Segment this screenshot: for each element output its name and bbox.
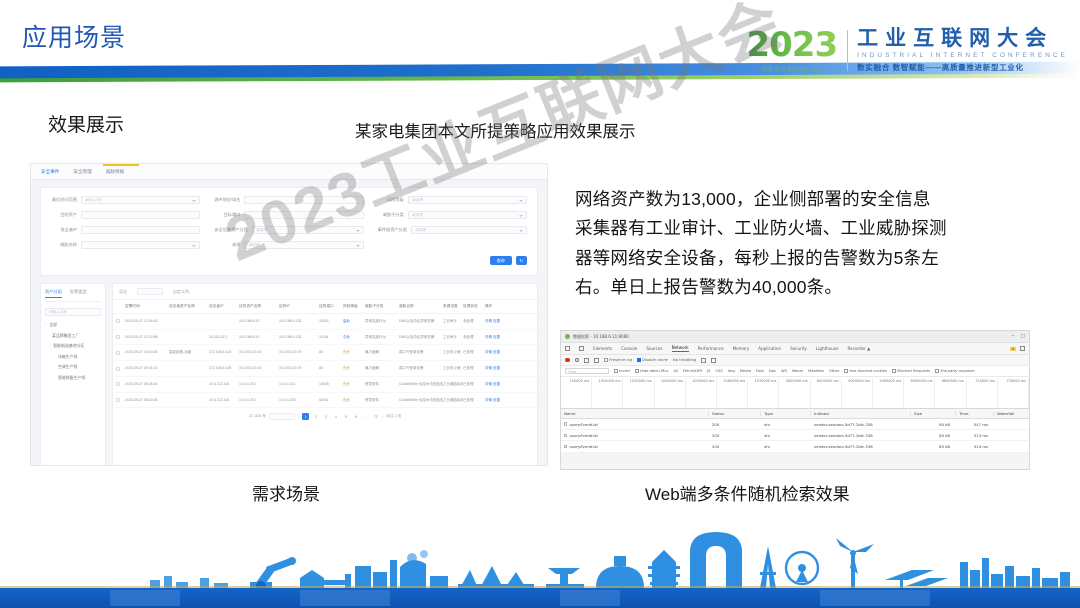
filter-value-7: 请选择 [412, 198, 423, 203]
filter-label-7: 风险等级 [378, 197, 404, 203]
th-0[interactable]: 告警时间 [125, 304, 169, 309]
cell-dst-name: 192.168.8.13 [239, 319, 279, 324]
page-title: 应用场景 [22, 18, 126, 54]
type-filter-wasm[interactable]: Wasm [792, 369, 803, 373]
clear-icon[interactable] [575, 358, 580, 363]
filter-reset-button[interactable]: ↻ [516, 256, 527, 265]
factory-tank-icon [300, 570, 351, 588]
filter-input-11[interactable]: 请选择 [411, 226, 527, 234]
logo-english-name: INDUSTRIAL INTERNET CONFERENCE [857, 52, 1068, 59]
request-icon [564, 434, 567, 437]
tree-caret-0[interactable]: − [45, 322, 47, 328]
app-filter-grid: 最近时间范围最近1小时 源IP地址/域名 风险等级请选择 目的资产 目标端口 威… [51, 196, 527, 249]
logo-year-block: 2023 中国·苏州 8月14日-18日 [746, 28, 847, 73]
timeline-tick-11: 6000000 ms [904, 379, 935, 408]
tree-label-4: 空调生产线 [58, 364, 77, 370]
pagination-page-1[interactable]: 1 [302, 413, 309, 420]
filter-input-7[interactable]: 请选择 [408, 196, 527, 204]
cell-port: 31163 [319, 319, 343, 324]
cell-threat: CobaltStrike 远控木马回连告警 [399, 382, 443, 387]
filter-input-10[interactable]: 请选择 [252, 226, 364, 234]
checkbox-box [935, 369, 939, 373]
th-7[interactable]: 威胁子分类 [365, 304, 399, 309]
import-har-icon[interactable] [701, 358, 706, 363]
bridge-icon [458, 566, 534, 588]
cell-action[interactable]: 详情 处置 [485, 398, 517, 403]
cell-device: 工业威胁探测器 [443, 398, 463, 403]
timeline-tick-10: 1900000 ms [873, 379, 904, 408]
filter-field-2[interactable]: 目的资产 [51, 211, 200, 219]
cell-dst-name: 10.100.100.19 [239, 350, 279, 355]
tab-memory[interactable]: Memory [733, 346, 750, 351]
skyline-graphic [0, 522, 1080, 608]
sea-edge-line [0, 586, 1080, 588]
tree-label-1: 某品牌集团工厂 [52, 333, 79, 339]
filter-input-8[interactable]: 请选择 [408, 211, 527, 219]
devtools-titlebar: 数据检索 - 10.188.6.11:8080 − □ [561, 331, 1029, 343]
type-filter-all[interactable]: All [673, 369, 678, 373]
network-toolbar: Preserve log Disable cache No throttling [561, 355, 1029, 366]
row-checkbox[interactable] [116, 398, 120, 402]
th-1[interactable]: 攻击者资产名称 [169, 304, 209, 309]
filter-value-12: 请选择 [248, 243, 259, 248]
table-row[interactable]: 2023-05-07 08:33:08 10.4.212.116 10.3.4.… [113, 393, 537, 409]
row-checkbox[interactable] [116, 351, 120, 355]
tree-node-4[interactable]: 空调生产线 [45, 364, 101, 370]
cell-sub: 异常连接行为 [365, 335, 399, 340]
table-toolbar-pagesize[interactable] [137, 288, 163, 295]
ferris-wheel-icon [786, 552, 818, 584]
filter-field-6[interactable]: 威胁名称 [51, 241, 200, 249]
cell-action[interactable]: 详情 处置 [485, 382, 517, 387]
filter-field-4[interactable]: 目标端口 [214, 211, 363, 219]
figure-title: 某家电集团本文所提策略应用效果展示 [355, 118, 636, 142]
filter-field-0[interactable]: 最近时间范围最近1小时 [51, 196, 200, 204]
cell-threat: DNS以及协议异常告警 [399, 335, 443, 340]
record-icon[interactable] [565, 358, 570, 363]
tab-lighthouse[interactable]: Lighthouse [816, 346, 839, 351]
cell-dst-name: 10.3.4.210 [239, 382, 279, 387]
th-5[interactable]: 目的端口 [319, 304, 343, 309]
request-name-cell[interactable]: queryEventList [561, 444, 709, 449]
request-name: queryEventList [569, 433, 597, 438]
wind-turbine-icon [836, 538, 874, 588]
filter-label-1: 源IP地址/域名 [214, 197, 240, 203]
app-tab-indicator [103, 164, 139, 166]
table-row[interactable]: 2023-05-07 09:41:13 172.168.8.105 10.100… [113, 361, 537, 377]
request-type: xhr [761, 422, 811, 427]
cell-threat: 弱口令登录告警 [399, 366, 443, 371]
row-checkbox[interactable] [116, 367, 120, 371]
type-filter-xhr[interactable]: Fetch/XHR [683, 369, 702, 373]
timeline-tick-3: 1040000 ms [655, 379, 686, 408]
filter-label-0: 最近时间范围 [51, 197, 77, 203]
paragraph-line-0: 网络资产数为13,000，企业侧部署的安全信息 [575, 185, 1010, 214]
pagination-page-4[interactable]: 4 [332, 413, 339, 420]
cell-device: 工业威胁探测器 [443, 382, 463, 387]
cell-src-ip: 10.4.212.116 [209, 382, 239, 387]
filter-label-11: 事件级资产分类 [378, 227, 407, 233]
tree-node-5[interactable]: 智能装备生产线 [45, 375, 101, 381]
cell-dst-ip: 10.100.100.79 [279, 350, 319, 355]
cell-action[interactable]: 详情 处置 [485, 319, 517, 324]
tree-search-input[interactable]: 请输入名称 [45, 308, 101, 316]
cell-action[interactable]: 详情 处置 [485, 366, 517, 371]
caption-right: Web端多条件随机检索效果 [645, 480, 850, 505]
th-3[interactable]: 目的资产名称 [239, 304, 279, 309]
pagination-next[interactable]: › [382, 415, 383, 419]
request-size: 80 kB [911, 422, 956, 427]
filter-input-6[interactable] [81, 241, 200, 249]
request-row[interactable]: queryEventList 200 xhr vendor-vendors-5d… [561, 419, 1029, 430]
type-filter-media[interactable]: Media [740, 369, 751, 373]
tree-list: −全部 某品牌集团工厂 −智能制造基地分区 冰箱生产线 空调生产线 智能装备生产… [45, 322, 101, 381]
type-filter-font[interactable]: Font [756, 369, 764, 373]
filter-label-2: 目的资产 [51, 212, 77, 218]
filter-input-0[interactable]: 最近1小时 [81, 196, 200, 204]
timeline-tick-2: 1030000 ms [623, 379, 654, 408]
pagination-page-3[interactable]: 3 [322, 413, 329, 420]
cell-src-ip: 172.168.8.105 [209, 366, 239, 371]
th-9[interactable]: 来源设备 [443, 304, 463, 309]
tree-tab-0[interactable]: 资产分组 [45, 289, 62, 298]
tree-label-2: 智能制造基地分区 [53, 343, 84, 349]
preserve-log-label: Preserve log [609, 358, 632, 362]
request-size: 80 kB [911, 433, 956, 438]
filter-input-4[interactable] [244, 211, 363, 219]
network-timeline[interactable]: 100000 ms 1020000 ms 1030000 ms 1040000 … [561, 377, 1029, 409]
pagination-page-6[interactable]: 6 [352, 413, 359, 420]
warning-badge[interactable]: 4 [1010, 347, 1016, 351]
cell-src-name: 智能制造-冰箱 [169, 350, 209, 355]
timeline-tick-7: 4000000 ms [779, 379, 810, 408]
logo-chinese-name: 工业互联网大会 [857, 28, 1068, 49]
device-toolbar-icon[interactable] [579, 346, 584, 351]
filter-input[interactable]: Filter [565, 368, 609, 375]
filter-search-button[interactable]: 查询 [490, 256, 512, 265]
table-toolbar-export[interactable]: 导出 [119, 289, 127, 295]
col-status[interactable]: Status [709, 411, 761, 416]
request-initiator[interactable]: vendor-vendors-5d77-2bfc.338 [811, 433, 911, 438]
filter-label-4: 目标端口 [214, 212, 240, 218]
app-tab-0[interactable]: 安全事件 [41, 169, 59, 175]
table-toolbar-columns[interactable]: 自定义列 [173, 289, 189, 295]
window-controls: − □ [1011, 334, 1025, 339]
timeline-tick-4: 1050000 ms [686, 379, 717, 408]
checkbox-box [892, 369, 896, 373]
pagination-prev[interactable]: ‹ [298, 415, 299, 419]
pavilion-icon [546, 568, 584, 588]
filter-field-7[interactable]: 风险等级请选择 [378, 196, 527, 204]
conference-logo: 2023 中国·苏州 8月14日-18日 工业互联网大会 INDUSTRIAL … [746, 28, 1068, 73]
th-6[interactable]: 风险等级 [343, 304, 365, 309]
settings-gear-icon[interactable] [1020, 346, 1025, 351]
throttling-select[interactable]: No throttling [673, 358, 696, 362]
tree-tab-1[interactable]: 告警类型 [70, 289, 87, 298]
th-10[interactable]: 处理状态 [463, 304, 485, 309]
timeline-tick-8: 6000000 ms [811, 379, 842, 408]
filter-field-8[interactable]: 威胁子分类请选择 [378, 211, 527, 219]
cell-src-ip: 172.168.6.103 [209, 350, 239, 355]
filter-input-12[interactable]: 请选择 [244, 241, 363, 249]
table-toolbar: 导出 自定义列 [113, 284, 537, 300]
factory-icon [355, 550, 448, 588]
type-filter-js[interactable]: JS [707, 369, 710, 373]
filter-label-3: 攻击者IP [51, 227, 77, 233]
cell-threat: DNS以及协议异常告警 [399, 319, 443, 324]
third-party-label: 3rd-party requests [940, 369, 974, 373]
tree-node-3[interactable]: 冰箱生产线 [45, 354, 101, 360]
col-time[interactable]: Time [956, 411, 994, 416]
col-type[interactable]: Type [761, 411, 811, 416]
cell-dst-ip: 10.3.4.211 [279, 382, 319, 387]
filter-placeholder: Filter [568, 370, 577, 374]
app-screenshot: 安全事件 安全管理 威胁情报 最近时间范围最近1小时 源IP地址/域名 风险等级… [30, 163, 548, 466]
logo-text-block: 工业互联网大会 INDUSTRIAL INTERNET CONFERENCE 数… [857, 28, 1068, 73]
pagination-ellipsis: … [362, 413, 369, 420]
checkbox-box [637, 358, 641, 362]
request-icon [564, 422, 567, 425]
tree-caret-2[interactable]: − [49, 343, 51, 349]
cell-time: 2023-05-07 12:05:18 [125, 319, 169, 324]
cell-time: 2023-05-07 08:36:44 [125, 382, 169, 387]
th-2[interactable]: 攻击者IP [209, 304, 239, 309]
app-tab-1[interactable]: 安全管理 [73, 169, 91, 175]
tree-node-1[interactable]: 某品牌集团工厂 [45, 333, 101, 339]
tab-performance[interactable]: Performance [698, 346, 724, 351]
row-checkbox[interactable] [116, 335, 120, 339]
type-filter-manifest[interactable]: Manifest [808, 369, 824, 373]
paragraph-line-3: 右。单日上报告警数为40,000条。 [575, 273, 1010, 302]
timeline-tick-12: 6890000 ms [935, 379, 966, 408]
caption-left: 需求场景 [252, 480, 320, 505]
maximize-icon[interactable]: □ [1021, 334, 1025, 339]
filter-field-1[interactable]: 源IP地址/域名 [214, 196, 363, 204]
timeline-tick-0: 100000 ms [561, 379, 592, 408]
hide-data-urls-checkbox[interactable]: Hide data URLs [635, 369, 668, 373]
cell-device: 工业防火墙 [443, 350, 463, 355]
request-time: 513 ms [956, 433, 994, 438]
request-size: 80 kB [911, 444, 956, 449]
tree-tabs: 资产分组 告警类型 [45, 289, 101, 302]
filter-field-11[interactable]: 事件级资产分类请选择 [378, 226, 527, 234]
cell-status: 已处理 [463, 350, 485, 355]
section-label: 效果展示 [48, 110, 124, 137]
th-8[interactable]: 威胁名称 [399, 304, 443, 309]
request-type: xhr [761, 444, 811, 449]
cell-level: 低危 [343, 366, 365, 371]
timeline-tick-5: 1060000 ms [717, 379, 748, 408]
request-status: 200 [709, 444, 761, 449]
cell-action[interactable]: 详情 处置 [485, 350, 517, 355]
timeline-ticks: 100000 ms 1020000 ms 1030000 ms 1040000 … [561, 377, 1029, 408]
tab-elements[interactable]: Elements [593, 346, 612, 351]
request-name: queryEventList [569, 444, 597, 449]
filter-label-12: 来源 [214, 242, 240, 248]
checkbox-box [604, 358, 608, 362]
third-party-checkbox[interactable]: 3rd-party requests [935, 369, 975, 373]
dome-building-icon [596, 556, 644, 588]
tree-label-5: 智能装备生产线 [58, 375, 85, 381]
request-name-cell[interactable]: queryEventList [561, 422, 709, 427]
cell-status: 已处理 [463, 398, 485, 403]
disable-cache-checkbox[interactable]: Disable cache [637, 358, 668, 362]
filter-field-3[interactable]: 攻击者IP [51, 226, 200, 234]
timeline-tick-1: 1020000 ms [592, 379, 623, 408]
devtools-tabbar-right: 4 [1010, 346, 1025, 351]
timeline-tick-9: 5000000 ms [842, 379, 873, 408]
table-row[interactable]: 2023-05-07 12:02:58 34.25.132.2 192.168.… [113, 330, 537, 346]
cell-dst-name: 10.100.100.19 [239, 366, 279, 371]
tree-node-0[interactable]: −全部 [45, 322, 101, 328]
cell-time: 2023-05-07 12:02:58 [125, 335, 169, 340]
filter-label-10: 安全设备资产分类 [214, 227, 248, 233]
col-waterfall[interactable]: Waterfall [994, 411, 1030, 416]
filter-value-0: 最近1小时 [85, 198, 101, 203]
pagination-jump[interactable]: 前往 1 页 [386, 414, 401, 419]
tab-network[interactable]: Network [672, 345, 689, 353]
row-checkbox[interactable] [116, 382, 120, 386]
cell-sub: 恶意软件 [365, 398, 399, 403]
th-11[interactable]: 操作 [485, 304, 517, 309]
tree-node-2[interactable]: −智能制造基地分区 [45, 343, 101, 349]
cell-sub: 暴力破解 [365, 350, 399, 355]
cell-status: 已处理 [463, 382, 485, 387]
blocked-requests-checkbox[interactable]: Blocked Requests [892, 369, 930, 373]
app-tab-2[interactable]: 威胁情报 [106, 169, 124, 175]
tree-label-3: 冰箱生产线 [58, 354, 77, 360]
pagination-total: 共 1428 条 [249, 414, 266, 419]
request-time: 514 ms [956, 444, 994, 449]
tree-label-0: 全部 [49, 322, 57, 328]
request-row[interactable]: queryEventList 200 xhr vendor-vendors-5d… [561, 441, 1029, 452]
checkbox-box [844, 369, 848, 373]
request-initiator[interactable]: vendor-vendors-5d77-2bfc.338 [811, 444, 911, 449]
alert-table-panel: 导出 自定义列 告警时间 攻击者资产名称 攻击者IP 目的资产名称 目的IP 目… [112, 283, 538, 466]
preserve-log-checkbox[interactable]: Preserve log [604, 358, 632, 362]
table-row[interactable]: 2023-05-07 10:44:05 智能制造-冰箱 172.168.6.10… [113, 345, 537, 361]
cell-level: 低危 [343, 382, 365, 387]
col-size[interactable]: Size [911, 411, 956, 416]
col-name[interactable]: Name [561, 411, 709, 416]
slide-root: 应用场景 2023 中国·苏州 8月14日-18日 工业互联网大会 INDUST… [0, 0, 1080, 608]
favicon-icon [565, 334, 570, 339]
col-initiator[interactable]: Initiator [811, 411, 911, 416]
network-filter-bar: Filter Invert Hide data URLs All Fetch/X… [561, 366, 1029, 377]
type-filter-other[interactable]: Other [829, 369, 839, 373]
cell-device: 工业审计 [443, 335, 463, 340]
cell-level: 高危 [343, 319, 365, 324]
cell-status: 未处理 [463, 335, 485, 340]
devtools-screenshot: 数据检索 - 10.188.6.11:8080 − □ Elements Con… [560, 330, 1030, 470]
invert-checkbox[interactable]: Invert [614, 369, 630, 373]
footer-skyline [0, 522, 1080, 608]
request-initiator[interactable]: vendor-vendors-5d77-2bfc.338 [811, 422, 911, 427]
filter-input-3[interactable] [81, 226, 200, 234]
type-filter-css[interactable]: CSS [715, 369, 722, 373]
request-type: xhr [761, 433, 811, 438]
filter-input-2[interactable] [81, 211, 200, 219]
inspect-icon[interactable] [565, 346, 570, 351]
request-table-header: Name Status Type Initiator Size Time Wat… [561, 409, 1029, 419]
minimize-icon[interactable]: − [1011, 334, 1015, 339]
type-filter-img[interactable]: Img [728, 369, 735, 373]
cell-threat: CobaltStrike 远控木马回连告警 [399, 398, 443, 403]
filter-value-10: 请选择 [256, 228, 267, 233]
request-status: 200 [709, 433, 761, 438]
export-har-icon[interactable] [711, 358, 716, 363]
request-time: 547 ms [956, 422, 994, 427]
pagination-page-5[interactable]: 5 [342, 413, 349, 420]
request-row[interactable]: queryEventList 200 xhr vendor-vendors-5d… [561, 430, 1029, 441]
blocked-cookies-label: Has blocked cookies [850, 369, 888, 373]
cell-level: 低危 [343, 398, 365, 403]
blocked-requests-label: Blocked Requests [897, 369, 930, 373]
description-paragraph: 网络资产数为13,000，企业侧部署的安全信息 采集器有工业审计、工业防火墙、工… [575, 185, 1010, 303]
gate-of-orient-icon [690, 532, 742, 588]
type-filter-doc[interactable]: Doc [769, 369, 776, 373]
request-icon [564, 445, 567, 448]
blocked-cookies-checkbox[interactable]: Has blocked cookies [844, 369, 887, 373]
cell-time: 2023-05-07 09:41:13 [125, 366, 169, 371]
cell-status: 已处理 [463, 366, 485, 371]
th-4[interactable]: 目的IP [279, 304, 319, 309]
tab-sources[interactable]: Sources [646, 346, 662, 351]
devtools-window-title: 数据检索 - 10.188.6.11:8080 [573, 334, 629, 340]
filter-field-10[interactable]: 安全设备资产分类请选择 [214, 226, 363, 234]
pagination-page-last[interactable]: 72 [372, 413, 379, 420]
cell-sub: 暴力破解 [365, 366, 399, 371]
cell-level: 低危 [343, 350, 365, 355]
filter-value-11: 请选择 [415, 228, 426, 233]
filter-field-12[interactable]: 来源请选择 [214, 241, 363, 249]
cell-dst-ip: 10.100.100.79 [279, 366, 319, 371]
filter-label-6: 威胁名称 [51, 242, 77, 248]
pagination-pagesize[interactable] [269, 413, 295, 420]
filter-label-8: 威胁子分类 [378, 212, 404, 218]
cell-port: 80 [319, 350, 343, 355]
tree-search-placeholder: 请输入名称 [49, 310, 67, 315]
search-icon[interactable] [594, 358, 599, 363]
filter-value-8: 请选择 [412, 213, 423, 218]
hide-data-urls-label: Hide data URLs [640, 369, 668, 373]
cell-port: 52041 [319, 398, 343, 403]
cell-action[interactable]: 详情 处置 [485, 335, 517, 340]
tab-console[interactable]: Console [621, 346, 637, 351]
timeline-tick-13: 720000 ms [967, 379, 998, 408]
filter-input-1[interactable] [244, 196, 363, 204]
request-status: 200 [709, 422, 761, 427]
table-row[interactable]: 2023-05-07 12:05:18 192.168.8.13 192.168… [113, 314, 537, 330]
request-name-cell[interactable]: queryEventList [561, 433, 709, 438]
cell-time: 2023-05-07 10:44:05 [125, 350, 169, 355]
cell-dst-name: 192.168.8.13 [239, 335, 279, 340]
row-checkbox[interactable] [116, 319, 120, 323]
type-filter-ws[interactable]: WS [781, 369, 787, 373]
pagination-page-2[interactable]: 2 [312, 413, 319, 420]
tab-application[interactable]: Application [758, 346, 781, 351]
cell-dst-name: 10.3.4.210 [239, 398, 279, 403]
filter-funnel-icon[interactable] [584, 358, 589, 363]
cell-time: 2023-05-07 08:33:08 [125, 398, 169, 403]
tab-security[interactable]: Security [790, 346, 807, 351]
table-row[interactable]: 2023-05-07 08:36:44 10.4.212.116 10.3.4.… [113, 377, 537, 393]
timeline-tick-6: 1070000 ms [748, 379, 779, 408]
cell-dst-ip: 192.168.4.133 [279, 335, 319, 340]
cell-threat: 弱口令登录告警 [399, 350, 443, 355]
tab-recorder[interactable]: Recorder ▲ [848, 346, 871, 351]
checkbox-box [635, 369, 639, 373]
